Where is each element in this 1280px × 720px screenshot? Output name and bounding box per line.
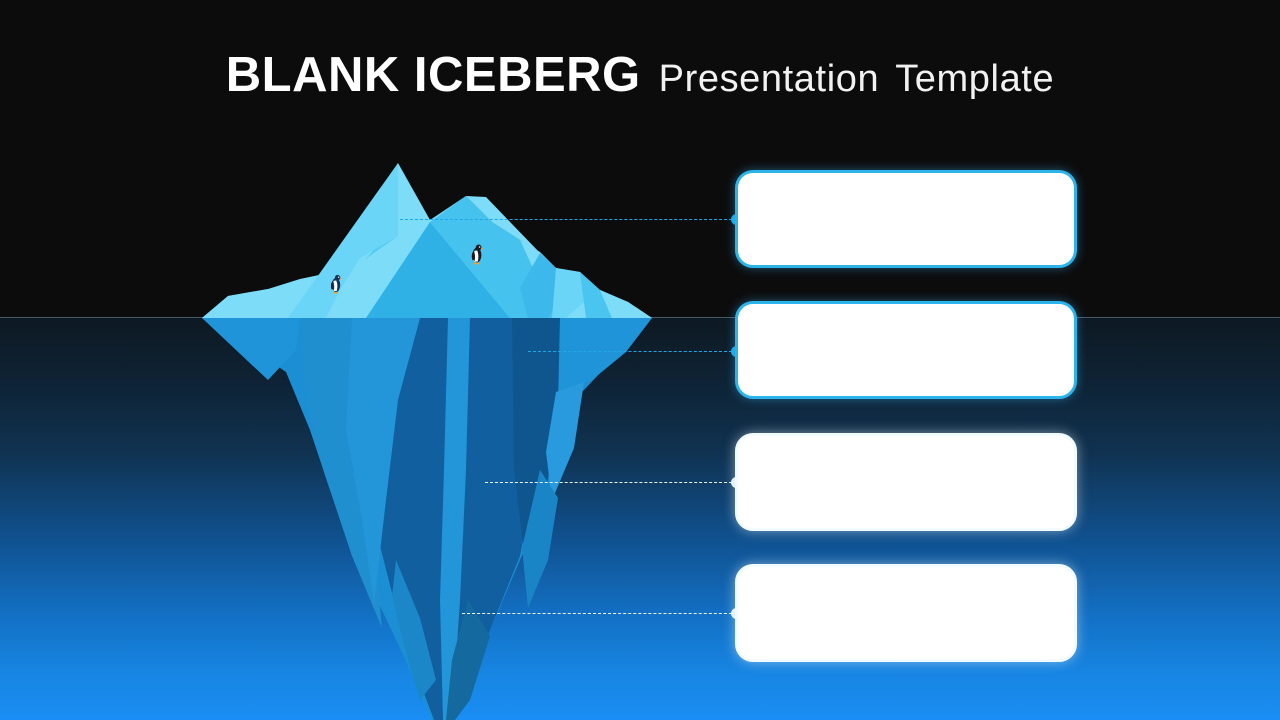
connector-line-4 bbox=[462, 613, 737, 614]
content-card-2[interactable] bbox=[735, 301, 1077, 399]
content-card-4-text[interactable] bbox=[738, 567, 1074, 595]
connector-line-3 bbox=[485, 482, 737, 483]
page-title: BLANK ICEBERGPresentationTemplate bbox=[0, 47, 1280, 103]
content-card-3-text[interactable] bbox=[738, 436, 1074, 464]
content-card-4[interactable] bbox=[735, 564, 1077, 662]
content-card-2-text[interactable] bbox=[738, 304, 1074, 332]
content-card-1[interactable] bbox=[735, 170, 1077, 268]
content-card-1-text[interactable] bbox=[738, 173, 1074, 201]
title-word-presentation: Presentation bbox=[659, 58, 880, 100]
title-word-template: Template bbox=[895, 58, 1054, 100]
connector-line-2 bbox=[528, 351, 737, 352]
title-bold-text: BLANK ICEBERG bbox=[226, 48, 641, 102]
title-light-text: PresentationTemplate bbox=[659, 58, 1055, 100]
water-background bbox=[0, 318, 1280, 720]
content-card-3[interactable] bbox=[735, 433, 1077, 531]
waterline-divider bbox=[0, 317, 1280, 318]
connector-line-1 bbox=[400, 219, 737, 220]
slide-canvas: BLANK ICEBERGPresentationTemplate bbox=[0, 0, 1280, 720]
